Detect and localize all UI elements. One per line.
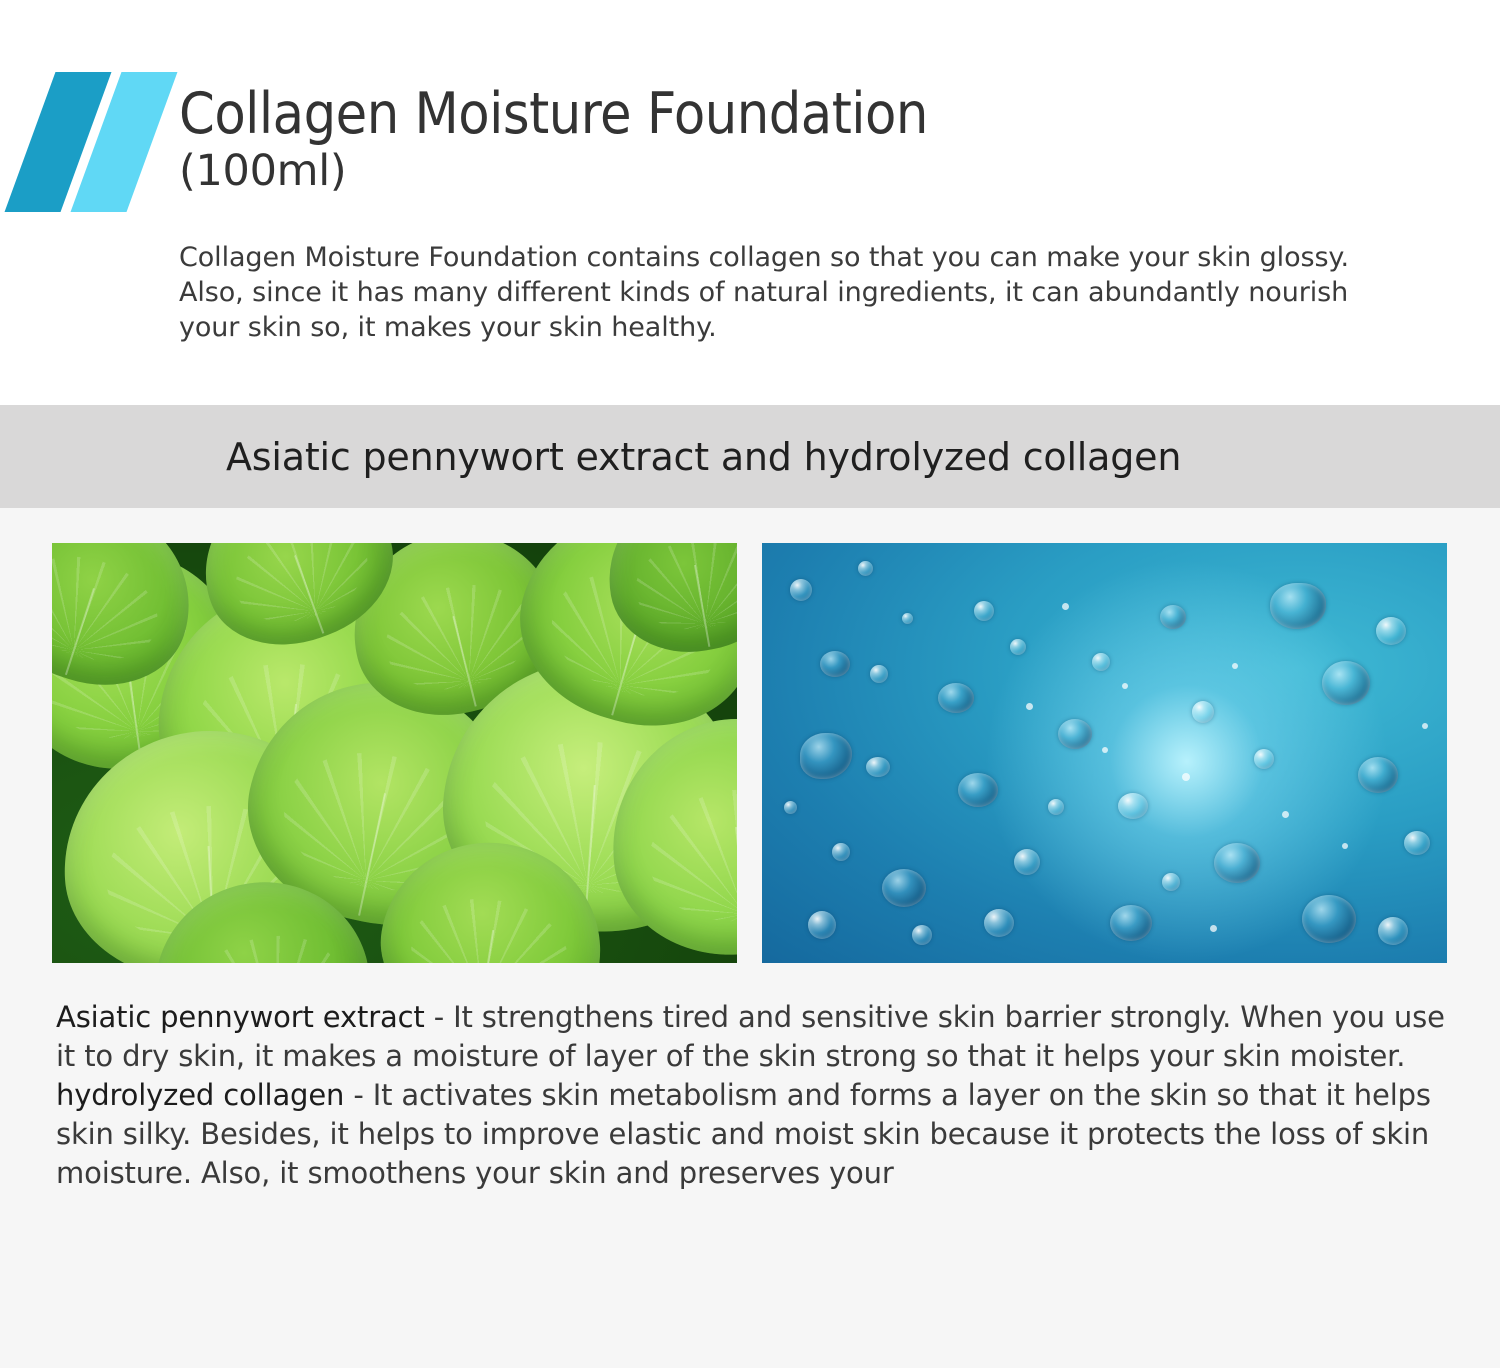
ingredients-banner-title: Asiatic pennywort extract and hydrolyzed… [226,434,1181,480]
bubble-shape [870,665,888,683]
asiatic-pennywort-term: Asiatic pennywort extract [56,1000,425,1034]
bubble-shape [784,801,797,814]
asiatic-pennywort-description: Asiatic pennywort extract - It strengthe… [56,998,1456,1076]
foam-speck [1210,925,1217,932]
foam-speck [1122,683,1128,689]
bubble-shape [882,869,926,907]
double-slash-logo [8,72,158,212]
product-intro-text: Collagen Moisture Foundation contains co… [179,240,1489,345]
bubble-shape [820,651,850,677]
bubble-shape [1378,917,1408,945]
bubble-shape [1160,605,1186,629]
water-photo-content [762,543,1447,963]
foam-speck [1232,663,1238,669]
bubble-shape [1358,757,1398,793]
ingredient-images-row [0,543,1500,963]
bubble-shape [1404,831,1430,855]
bubble-shape [1048,799,1064,815]
foam-speck [1026,703,1033,710]
bubble-shape [1254,749,1274,769]
leaves-photo-content [52,543,737,963]
page-title: Collagen Moisture Foundation (100ml) [179,83,1469,197]
bubble-shape [1014,849,1040,875]
product-detail-page: Collagen Moisture Foundation (100ml) Col… [0,0,1500,1368]
bubble-shape [832,843,850,861]
foam-speck [1182,773,1190,781]
foam-speck [1282,811,1289,818]
foam-speck [1422,723,1428,729]
product-volume: (100ml) [179,145,1469,197]
bubble-shape [958,773,998,807]
bubble-shape [1092,653,1110,671]
bubble-shape [1110,905,1152,941]
bubble-shape [1162,873,1180,891]
bubble-shape [912,925,932,945]
foam-speck [1102,747,1108,753]
intro-line-2: Also, since it has many different kinds … [179,275,1489,310]
product-title: Collagen Moisture Foundation [179,83,1469,145]
bubble-shape [858,561,873,576]
bubble-shape [1302,895,1356,943]
hydrolyzed-collagen-term: hydrolyzed collagen [56,1078,344,1112]
bubble-shape [1376,617,1406,645]
bubble-shape [790,579,812,601]
hydrolyzed-collagen-description: hydrolyzed collagen - It activates skin … [56,1076,1456,1193]
bubble-shape [1322,661,1370,705]
foam-speck [1342,843,1348,849]
bubble-shape [974,601,994,621]
bubble-shape [1192,701,1214,723]
ingredient-descriptions: Asiatic pennywort extract - It strengthe… [56,998,1456,1193]
bubble-shape [902,613,913,624]
water-bubbles-photo [762,543,1447,963]
bubble-shape [866,757,890,777]
bubble-shape [938,683,974,713]
bubble-shape [1214,843,1260,883]
page-header: Collagen Moisture Foundation (100ml) Col… [0,0,1500,405]
bubble-shape [1118,793,1148,819]
bubble-shape [984,909,1014,937]
intro-line-1: Collagen Moisture Foundation contains co… [179,240,1489,275]
bubble-shape [1058,719,1092,749]
ingredients-section: Asiatic pennywort extract - It strengthe… [0,508,1500,1368]
foam-speck [1062,603,1069,610]
asiatic-pennywort-leaves-photo [52,543,737,963]
bubble-shape [1010,639,1026,655]
ingredients-banner: Asiatic pennywort extract and hydrolyzed… [0,405,1500,508]
bubble-shape [808,911,836,939]
intro-line-3: your skin so, it makes your skin healthy… [179,310,1489,345]
